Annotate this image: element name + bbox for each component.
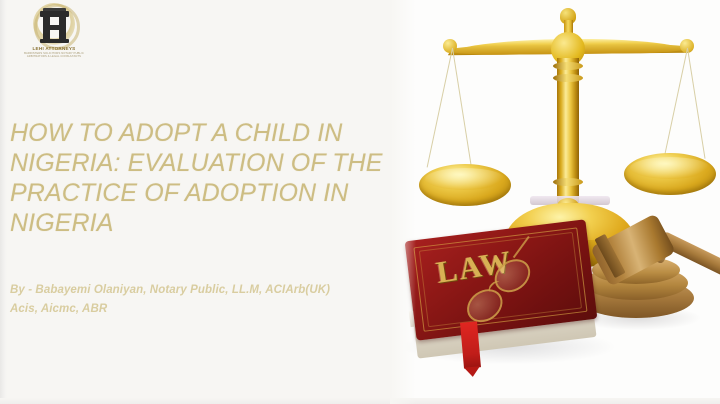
slide-title: HOW TO ADOPT A CHILD IN NIGERIA: EVALUAT… (10, 118, 416, 238)
slide-byline: By - Babayemi Olaniyan, Notary Public, L… (10, 281, 340, 319)
firm-logo-name: LEHI ATTORNEYS (16, 46, 92, 51)
scales-right-pan (624, 153, 716, 195)
scales-left-pan (419, 164, 511, 206)
presentation-slide: LAW LEHI ATTORNEYS BARRISTERS SOLICITORS… (0, 0, 720, 404)
left-edge-strip (0, 0, 7, 404)
pillar-monogram-icon (28, 2, 80, 48)
bottom-edge-strip (0, 398, 720, 404)
firm-logo-tagline: BARRISTERS SOLICITORS NOTARY PUBLIC ARBI… (16, 52, 92, 59)
artwork-left-fade (390, 0, 416, 404)
firm-logo: LEHI ATTORNEYS BARRISTERS SOLICITORS NOT… (16, 2, 92, 64)
